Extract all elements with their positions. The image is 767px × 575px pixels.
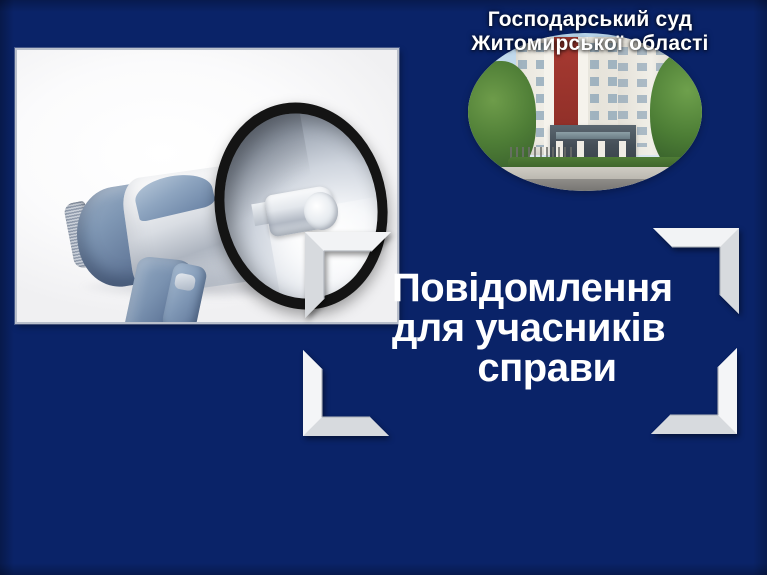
megaphone-grip-notch	[174, 272, 196, 291]
slide-title: Повідомлення для учасників справи	[392, 268, 702, 388]
court-name-heading: Господарський суд Житомирської області	[430, 8, 750, 55]
portico-signboard	[556, 132, 630, 139]
corner-bracket-bottom-left-icon	[303, 350, 389, 436]
corner-bracket-top-left-icon	[305, 232, 391, 318]
road	[468, 179, 702, 191]
slide-title-line-3: справи	[392, 348, 702, 388]
court-building-photo	[468, 33, 702, 191]
slide-title-line-1: Повідомлення	[392, 268, 702, 308]
court-name-line-1: Господарський суд	[430, 8, 750, 32]
court-name-line-2: Житомирської області	[430, 32, 750, 56]
slide-title-line-2: для учасників	[392, 308, 702, 348]
presentation-slide: Господарський суд Житомирської області	[0, 0, 767, 575]
